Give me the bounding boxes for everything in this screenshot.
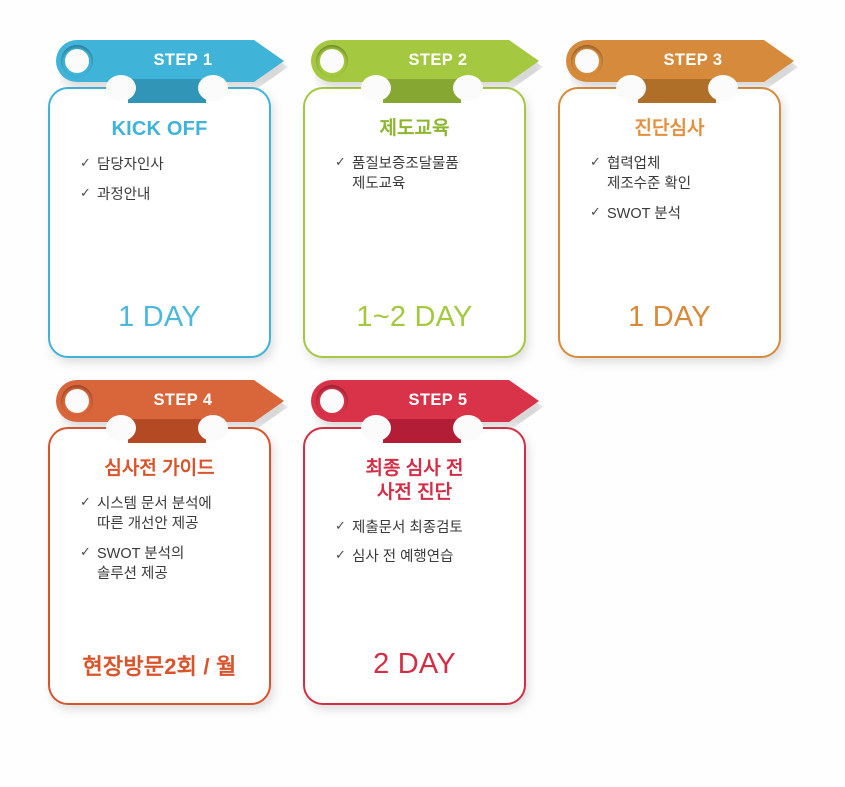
check-icon: ✓: [80, 156, 92, 170]
step-panel-5[interactable]: 최종 심사 전 사전 진단✓제출문서 최종검토✓심사 전 예행연습2 DAY: [303, 427, 526, 705]
step-connector-notch-left: [106, 75, 136, 101]
step-connector-notch-right: [708, 75, 738, 101]
check-icon: ✓: [80, 545, 92, 559]
step-connector-notch-right: [198, 415, 228, 441]
step-connector-notch-right: [198, 75, 228, 101]
step-bullet-list: ✓품질보증조달물품 제도교육: [321, 154, 508, 295]
step-connector-2: [383, 79, 461, 103]
step-duration: 현장방문2회 / 월: [66, 643, 253, 681]
step-panel-2[interactable]: 제도교육✓품질보증조달물품 제도교육1~2 DAY: [303, 87, 526, 358]
step-bullet-text: 협력업체 제조수준 확인: [607, 156, 691, 193]
step-panel-1[interactable]: KICK OFF✓담당자인사✓과정안내1 DAY: [48, 87, 271, 358]
step-title: 심사전 가이드: [66, 457, 253, 481]
step-banner-label: STEP 4: [128, 391, 213, 411]
step-duration: 2 DAY: [321, 642, 508, 681]
step-bullet-text: 품질보증조달물품 제도교육: [352, 156, 459, 193]
step-bullet-list: ✓협력업체 제조수준 확인✓SWOT 분석: [576, 154, 763, 295]
ribbon-hole-icon: [575, 49, 599, 73]
check-icon: ✓: [335, 548, 347, 562]
ribbon-hole-icon: [65, 389, 89, 413]
check-icon: ✓: [590, 155, 602, 169]
step-bullet-list: ✓시스템 문서 분석에 따른 개선안 제공✓SWOT 분석의 솔루션 제공: [66, 494, 253, 643]
step-banner-wrap-4: STEP 4: [56, 380, 271, 427]
ribbon-hole-icon: [65, 49, 89, 73]
step-connector-1: [128, 79, 206, 103]
step-connector-notch-left: [361, 415, 391, 441]
step-bullet-text: 제출문서 최종검토: [352, 520, 463, 536]
step-card-1[interactable]: STEP 1KICK OFF✓담당자인사✓과정안내1 DAY: [48, 40, 271, 358]
step-bullet-item: ✓SWOT 분석의 솔루션 제공: [80, 544, 253, 585]
step-connector-body: [383, 419, 461, 443]
step-banner-wrap-5: STEP 5: [311, 380, 526, 427]
step-title: 제도교육: [321, 117, 508, 141]
step-title: 최종 심사 전 사전 진단: [321, 457, 508, 505]
step-banner-wrap-2: STEP 2: [311, 40, 526, 87]
step-card-2[interactable]: STEP 2제도교육✓품질보증조달물품 제도교육1~2 DAY: [303, 40, 526, 358]
step-bullet-item: ✓심사 전 예행연습: [335, 547, 508, 568]
timeline-row-1: STEP 1KICK OFF✓담당자인사✓과정안내1 DAYSTEP 2제도교육…: [48, 40, 845, 358]
step-bullet-list: ✓담당자인사✓과정안내: [66, 155, 253, 295]
step-bullet-text: SWOT 분석의 솔루션 제공: [97, 546, 184, 583]
step-connector-notch-right: [453, 415, 483, 441]
step-connector-body: [128, 419, 206, 443]
step-duration: 1 DAY: [66, 295, 253, 334]
step-connector-notch-left: [106, 415, 136, 441]
check-icon: ✓: [335, 155, 347, 169]
step-bullet-text: 담당자인사: [97, 157, 164, 173]
step-title: 진단심사: [576, 117, 763, 141]
step-bullet-item: ✓SWOT 분석: [590, 204, 763, 225]
step-connector-body: [128, 79, 206, 103]
step-panel-4[interactable]: 심사전 가이드✓시스템 문서 분석에 따른 개선안 제공✓SWOT 분석의 솔루…: [48, 427, 271, 705]
step-bullet-item: ✓제출문서 최종검토: [335, 518, 508, 539]
step-connector-body: [383, 79, 461, 103]
step-banner-label: STEP 5: [383, 391, 468, 411]
step-card-4[interactable]: STEP 4심사전 가이드✓시스템 문서 분석에 따른 개선안 제공✓SWOT …: [48, 380, 271, 705]
step-connector-3: [638, 79, 716, 103]
step-card-3[interactable]: STEP 3진단심사✓협력업체 제조수준 확인✓SWOT 분석1 DAY: [558, 40, 781, 358]
check-icon: ✓: [590, 205, 602, 219]
step-bullet-text: SWOT 분석: [607, 206, 681, 222]
step-connector-notch-right: [453, 75, 483, 101]
step-bullet-list: ✓제출문서 최종검토✓심사 전 예행연습: [321, 518, 508, 643]
step-connector-notch-left: [616, 75, 646, 101]
step-banner-label: STEP 3: [638, 51, 723, 71]
step-bullet-item: ✓담당자인사: [80, 155, 253, 176]
step-connector-notch-left: [361, 75, 391, 101]
step-banner-wrap-3: STEP 3: [566, 40, 781, 87]
step-bullet-text: 심사 전 예행연습: [352, 549, 453, 565]
step-bullet-item: ✓과정안내: [80, 185, 253, 206]
step-connector-5: [383, 419, 461, 443]
step-duration: 1 DAY: [576, 295, 763, 334]
step-bullet-item: ✓품질보증조달물품 제도교육: [335, 154, 508, 195]
check-icon: ✓: [80, 495, 92, 509]
step-duration: 1~2 DAY: [321, 295, 508, 334]
step-banner-label: STEP 2: [383, 51, 468, 71]
step-connector-body: [638, 79, 716, 103]
step-panel-3[interactable]: 진단심사✓협력업체 제조수준 확인✓SWOT 분석1 DAY: [558, 87, 781, 358]
ribbon-hole-icon: [320, 49, 344, 73]
step-connector-4: [128, 419, 206, 443]
timeline-row-2: STEP 4심사전 가이드✓시스템 문서 분석에 따른 개선안 제공✓SWOT …: [48, 380, 845, 705]
step-title: KICK OFF: [66, 117, 253, 142]
step-bullet-text: 과정안내: [97, 187, 150, 203]
process-timeline-board: STEP 1KICK OFF✓담당자인사✓과정안내1 DAYSTEP 2제도교육…: [0, 0, 845, 787]
step-banner-wrap-1: STEP 1: [56, 40, 271, 87]
check-icon: ✓: [335, 519, 347, 533]
step-bullet-item: ✓시스템 문서 분석에 따른 개선안 제공: [80, 494, 253, 535]
step-card-5[interactable]: STEP 5최종 심사 전 사전 진단✓제출문서 최종검토✓심사 전 예행연습2…: [303, 380, 526, 705]
check-icon: ✓: [80, 186, 92, 200]
step-banner-label: STEP 1: [128, 51, 213, 71]
step-bullet-text: 시스템 문서 분석에 따른 개선안 제공: [97, 496, 212, 533]
step-bullet-item: ✓협력업체 제조수준 확인: [590, 154, 763, 195]
ribbon-hole-icon: [320, 389, 344, 413]
